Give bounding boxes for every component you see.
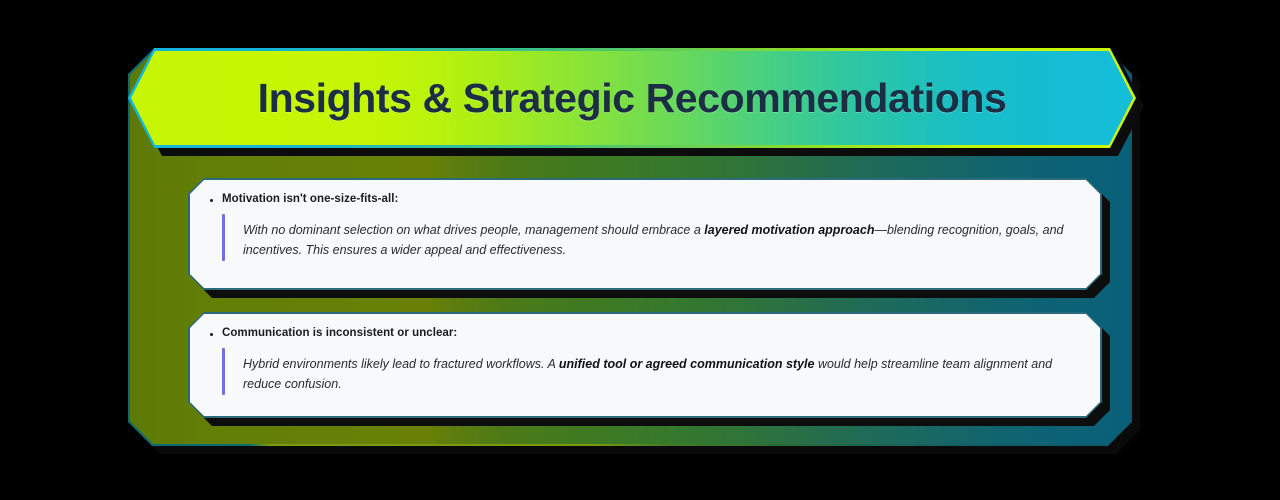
card-heading-text: Communication is inconsistent or unclear… [222,326,457,342]
card-body-text: With no dominant selection on what drive… [225,214,1078,261]
title-banner: Insights & Strategic Recommendations [131,51,1133,145]
card-heading-row: Motivation isn't one-size-fits-all: [210,192,1078,208]
bullet-icon [210,333,213,336]
card-body-text: Hybrid environments likely lead to fract… [225,348,1078,395]
page-title: Insights & Strategic Recommendations [258,78,1007,119]
insight-card-motivation[interactable]: Motivation isn't one-size-fits-all: With… [190,180,1100,288]
card-body-wrap: With no dominant selection on what drive… [222,214,1078,261]
slide-canvas: Insights & Strategic Recommendations Mot… [0,0,1280,500]
card-heading-text: Motivation isn't one-size-fits-all: [222,192,398,208]
insight-card-communication[interactable]: Communication is inconsistent or unclear… [190,314,1100,416]
bullet-icon [210,199,213,202]
card-body-wrap: Hybrid environments likely lead to fract… [222,348,1078,395]
card-heading-row: Communication is inconsistent or unclear… [210,326,1078,342]
